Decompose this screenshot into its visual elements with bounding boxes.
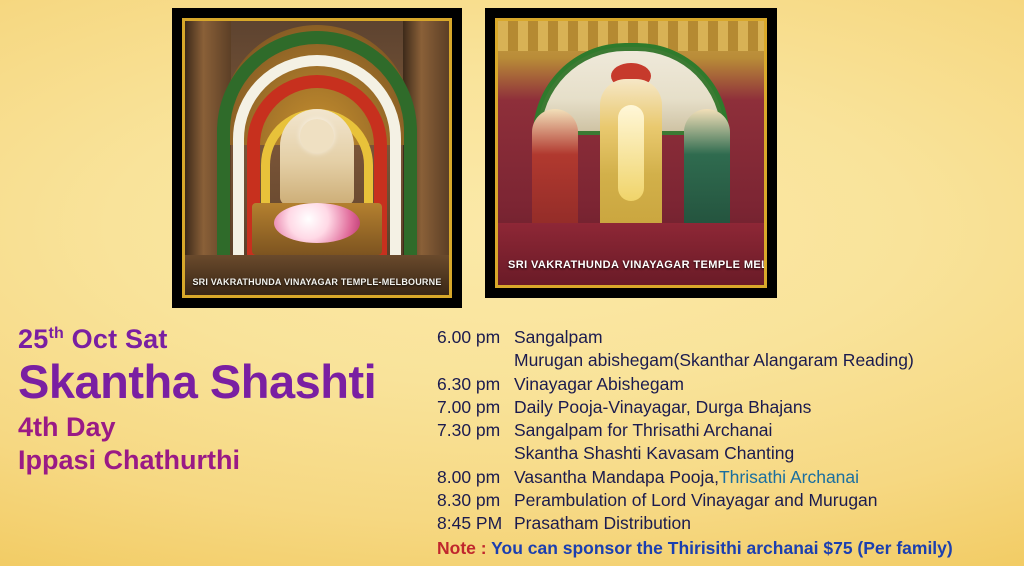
schedule-time: 8:45 PM (437, 512, 514, 535)
heading-block: 25th Oct Sat Skantha Shashti 4th Day Ipp… (18, 325, 418, 476)
note-label: Note : (437, 538, 491, 558)
photo-frame-border: SRI VAKRATHUNDA VINAYAGAR TEMPLE MELBOUR… (495, 18, 767, 288)
photo-caption-left: SRI VAKRATHUNDA VINAYAGAR TEMPLE-MELBOUR… (191, 277, 443, 287)
sponsor-note: Note : You can sponsor the Thirisithi ar… (437, 537, 1022, 560)
schedule-list: 6.00 pm Sangalpam Murugan abishegam(Skan… (437, 326, 1022, 561)
schedule-desc: Daily Pooja-Vinayagar, Durga Bhajans (514, 396, 811, 419)
photo-gallery: SRI VAKRATHUNDA VINAYAGAR TEMPLE-MELBOUR… (172, 8, 852, 308)
schedule-row: 7.00 pm Daily Pooja-Vinayagar, Durga Bha… (437, 396, 1022, 419)
murugan-idol (600, 79, 662, 239)
schedule-row: 6.00 pm Sangalpam (437, 326, 1022, 349)
flower-offering (274, 203, 360, 243)
schedule-desc-highlight: Thrisathi Archanai (719, 467, 859, 487)
schedule-desc: Sangalpam for Thrisathi Archanai (514, 419, 772, 442)
event-day: 4th Day (18, 412, 418, 443)
festival-poster: SRI VAKRATHUNDA VINAYAGAR TEMPLE-MELBOUR… (0, 0, 1024, 566)
murugan-deities-image: SRI VAKRATHUNDA VINAYAGAR TEMPLE MELBOUR… (498, 21, 764, 285)
photo-caption-right: SRI VAKRATHUNDA VINAYAGAR TEMPLE MELBOUR… (508, 259, 754, 271)
schedule-time: 6.30 pm (437, 373, 514, 396)
date-rest: Oct Sat (72, 324, 168, 354)
photo-frame-border: SRI VAKRATHUNDA VINAYAGAR TEMPLE-MELBOUR… (182, 18, 452, 298)
vinayagar-shrine-photo: SRI VAKRATHUNDA VINAYAGAR TEMPLE-MELBOUR… (172, 8, 462, 308)
date-number: 25 (18, 324, 48, 354)
schedule-desc: Perambulation of Lord Vinayagar and Muru… (514, 489, 878, 512)
schedule-desc-main: Vasantha Mandapa Pooja, (514, 467, 719, 487)
schedule-desc: Prasatham Distribution (514, 512, 691, 535)
schedule-row: 7.30 pm Sangalpam for Thrisathi Archanai (437, 419, 1022, 442)
page-title: Skantha Shashti (18, 357, 418, 406)
vinayagar-shrine-image: SRI VAKRATHUNDA VINAYAGAR TEMPLE-MELBOUR… (185, 21, 449, 295)
schedule-desc: Vasantha Mandapa Pooja,Thrisathi Archana… (514, 466, 859, 489)
event-festival: Ippasi Chathurthi (18, 445, 418, 476)
schedule-desc: Vinayagar Abishegam (514, 373, 684, 396)
event-date: 25th Oct Sat (18, 325, 418, 355)
consort-left-idol (532, 109, 578, 239)
schedule-row: 8.00 pm Vasantha Mandapa Pooja,Thrisathi… (437, 466, 1022, 489)
vinayagar-idol (280, 109, 354, 205)
schedule-desc-cont: Skantha Shashti Kavasam Chanting (437, 442, 1022, 465)
schedule-time: 8.00 pm (437, 466, 514, 489)
note-body: You can sponsor the Thirisithi archanai … (491, 538, 953, 558)
murugan-deities-photo: SRI VAKRATHUNDA VINAYAGAR TEMPLE MELBOUR… (485, 8, 777, 298)
schedule-desc: Sangalpam (514, 326, 603, 349)
schedule-time: 7.30 pm (437, 419, 514, 442)
date-suffix: th (48, 325, 64, 342)
schedule-desc-cont: Murugan abishegam(Skanthar Alangaram Rea… (437, 349, 1022, 372)
schedule-time: 7.00 pm (437, 396, 514, 419)
shrine-floor (185, 255, 449, 295)
schedule-time: 6.00 pm (437, 326, 514, 349)
schedule-row: 8:45 PM Prasatham Distribution (437, 512, 1022, 535)
consort-right-idol (684, 109, 730, 239)
schedule-row: 8.30 pm Perambulation of Lord Vinayagar … (437, 489, 1022, 512)
schedule-row: 6.30 pm Vinayagar Abishegam (437, 373, 1022, 396)
schedule-time: 8.30 pm (437, 489, 514, 512)
maroon-drape (498, 223, 764, 285)
